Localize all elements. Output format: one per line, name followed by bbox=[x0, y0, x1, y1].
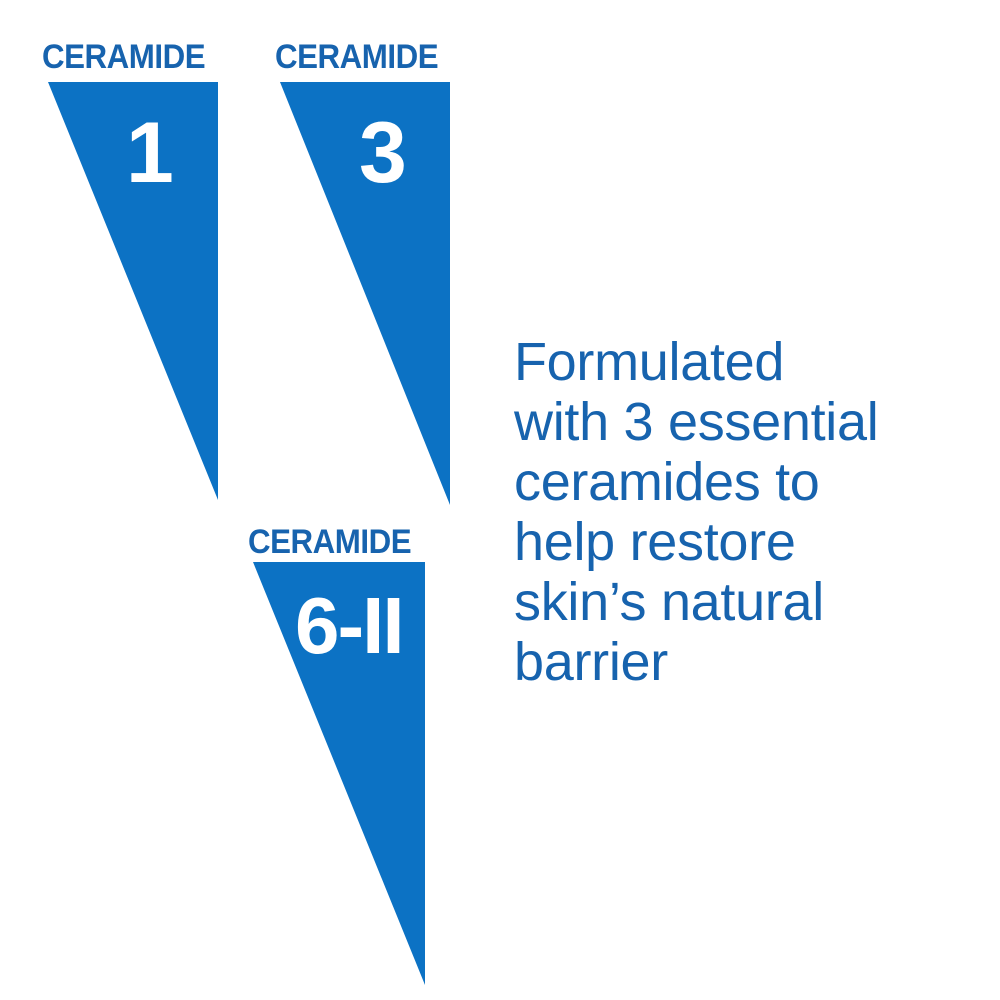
copy-line: ceramides to bbox=[514, 452, 954, 512]
copy-line: help restore bbox=[514, 512, 954, 572]
body-copy: Formulated with 3 essential ceramides to… bbox=[514, 332, 954, 692]
copy-line: skin’s natural bbox=[514, 572, 954, 632]
ceramide-3-number: 3 bbox=[359, 110, 407, 196]
ceramide-1-number: 1 bbox=[126, 110, 174, 196]
ceramide-6-ii-triangle-icon bbox=[205, 480, 465, 1000]
ceramide-3-triangle-icon bbox=[232, 0, 492, 525]
ceramide-wedge-6-ii: CERAMIDE 6-II bbox=[205, 480, 465, 1000]
infographic-canvas: CERAMIDE 1 CERAMIDE 3 CERAMIDE 6-II Form… bbox=[0, 0, 1000, 1000]
ceramide-1-triangle-icon bbox=[0, 0, 260, 520]
ceramide-6-ii-number: 6-II bbox=[295, 586, 403, 666]
copy-line: barrier bbox=[514, 632, 954, 692]
copy-line: with 3 essential bbox=[514, 392, 954, 452]
ceramide-wedge-3: CERAMIDE 3 bbox=[232, 0, 492, 525]
ceramide-wedge-1: CERAMIDE 1 bbox=[0, 0, 260, 520]
copy-line: Formulated bbox=[514, 332, 954, 392]
